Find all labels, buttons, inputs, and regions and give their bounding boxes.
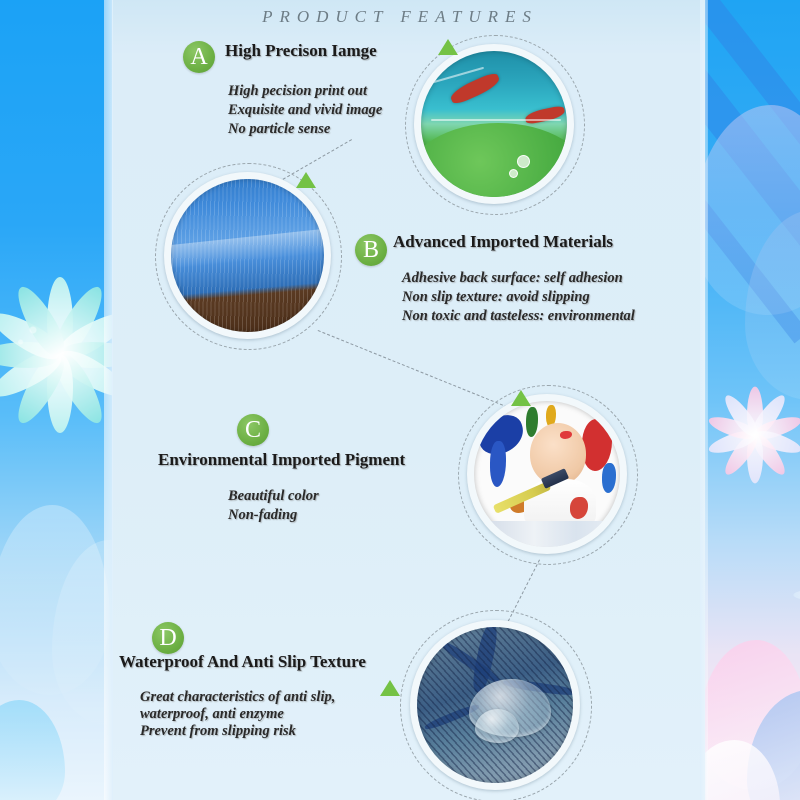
- feature-badge-b: B: [355, 234, 387, 266]
- waterproof-texture-photo: [417, 627, 573, 783]
- feature-heading-d: Waterproof And Anti Slip Texture: [119, 652, 366, 672]
- panel-left-edge: [104, 0, 113, 800]
- left-flower-detail-swirl: [2, 300, 64, 360]
- pointer-arrow-a: [438, 39, 458, 55]
- water-bubble: [517, 155, 530, 168]
- feature-heading-b: Advanced Imported Materials: [393, 232, 613, 252]
- feature-line-a-3: No particle sense: [228, 120, 330, 139]
- water-line: [431, 119, 561, 121]
- feature-line-c-2: Non-fading: [228, 506, 297, 525]
- blue-fabric-material-photo: [171, 179, 324, 332]
- koi-fish-shape: [524, 105, 566, 125]
- product-features-infographic: PRODUCT FEATURES A High Precison Iamge H…: [0, 0, 800, 800]
- paint-splatter: [602, 463, 616, 493]
- lily-pad-shape: [421, 123, 567, 197]
- koi-pond-print-photo: [421, 51, 567, 197]
- panel-right-edge: [700, 0, 708, 800]
- left-petal-shape-3: [0, 700, 65, 800]
- paint-floor-smear: [478, 521, 618, 547]
- flower-petal: [793, 590, 800, 600]
- feature-badge-a: A: [183, 41, 215, 73]
- left-decorative-band: [0, 0, 112, 800]
- pointer-arrow-b: [296, 172, 316, 188]
- feature-line-c-1: Beautiful color: [228, 487, 319, 506]
- feature-badge-c: C: [237, 414, 269, 446]
- page-title: PRODUCT FEATURES: [0, 7, 800, 27]
- feature-line-d-3: Prevent from slipping risk: [140, 722, 296, 741]
- feature-badge-d: D: [152, 622, 184, 654]
- feature-line-b-3: Non toxic and tasteless: environmental: [402, 307, 635, 326]
- water-bubble: [509, 169, 518, 178]
- feature-heading-c: Environmental Imported Pigment: [158, 450, 405, 470]
- right-decorative-band: [705, 0, 800, 800]
- pointer-arrow-c: [511, 390, 531, 406]
- water-droplet: [475, 709, 519, 743]
- baby-with-paintbrush-photo: [474, 401, 620, 547]
- feature-line-b-2: Non slip texture: avoid slipping: [402, 288, 590, 307]
- paint-splatter: [490, 441, 506, 487]
- feature-line-b-1: Adhesive back surface: self adhesion: [402, 269, 623, 288]
- feature-line-a-1: High pecision print out: [228, 82, 367, 101]
- pointer-arrow-d: [380, 680, 400, 696]
- feature-heading-a: High Precison Iamge: [225, 41, 377, 61]
- feature-line-a-2: Exquisite and vivid image: [228, 101, 382, 120]
